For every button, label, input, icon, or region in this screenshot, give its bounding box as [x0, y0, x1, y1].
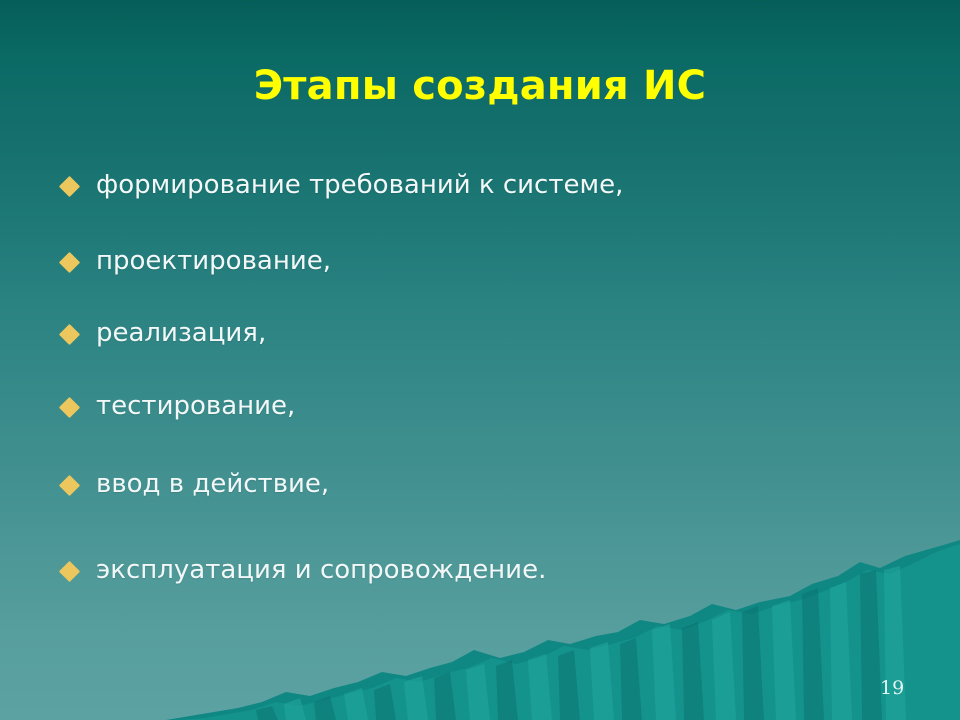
list-item-label: эксплуатация и сопровождение.: [96, 553, 546, 587]
diamond-bullet-icon: [59, 561, 80, 582]
page-number: 19: [880, 676, 930, 700]
spacer: [0, 278, 900, 316]
spacer: [0, 501, 900, 553]
diamond-bullet-icon: [59, 252, 80, 273]
list-item-label: проектирование,: [96, 244, 331, 278]
presentation-slide: Этапы создания ИС формирование требовани…: [0, 0, 960, 720]
diamond-bullet-icon: [59, 397, 80, 418]
list-item-label: формирование требований к системе,: [96, 168, 623, 202]
mountain-shadow-striations: [256, 570, 882, 720]
list-item: эксплуатация и сопровождение.: [0, 553, 900, 587]
list-item: тестирование,: [0, 389, 900, 423]
list-item-label: тестирование,: [96, 389, 295, 423]
list-item: реализация,: [0, 316, 900, 350]
diamond-bullet-icon: [59, 324, 80, 345]
list-item: ввод в действие,: [0, 467, 900, 501]
spacer: [0, 202, 900, 244]
list-item: проектирование,: [0, 244, 900, 278]
list-item: формирование требований к системе,: [0, 168, 900, 202]
spacer: [0, 423, 900, 467]
spacer: [0, 350, 900, 389]
mountain-striations: [284, 566, 906, 720]
bullet-list: формирование требований к системе, проек…: [0, 168, 900, 587]
list-item-label: реализация,: [96, 316, 266, 350]
slide-title: Этапы создания ИС: [0, 62, 960, 110]
diamond-bullet-icon: [59, 176, 80, 197]
diamond-bullet-icon: [59, 475, 80, 496]
list-item-label: ввод в действие,: [96, 467, 329, 501]
